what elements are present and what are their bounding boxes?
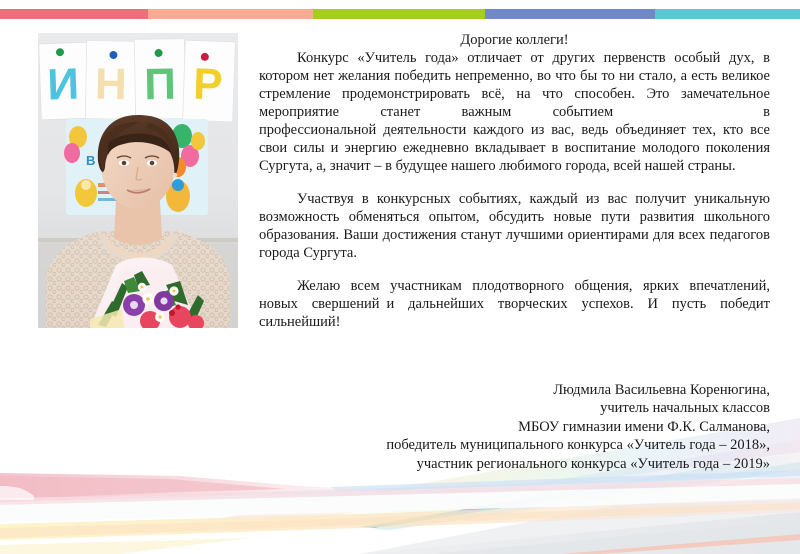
paragraph-1: Конкурс «Учитель года» отличает от други… [259,49,770,175]
signature-line-award-1: победитель муниципального конкурса «Учит… [300,436,770,454]
presentation-slide: И Н П Р [0,0,800,554]
letter-text-block: Дорогие коллеги! Конкурс «Учитель года» … [259,31,770,331]
color-bar-segment-peach [148,9,313,19]
paragraph-2: Участвуя в конкурсных событиях, каждый и… [259,190,770,262]
signature-block: Людмила Васильевна Коренюгина, учитель н… [300,381,770,473]
decorative-color-bar [0,9,800,19]
signature-line-name: Людмила Васильевна Коренюгина, [300,381,770,399]
color-bar-segment-blue [485,9,655,19]
signature-line-school: МБОУ гимназии имени Ф.К. Салманова, [300,418,770,436]
greeting-line: Дорогие коллеги! [259,31,770,49]
teacher-photo: И Н П Р [38,33,238,328]
signature-line-award-2: участник регионального конкурса «Учитель… [300,455,770,473]
color-bar-segment-red [0,9,148,19]
paragraph-3: Желаю всем участникам плодотворного обще… [259,277,770,331]
paragraph-1-part-a: Конкурс «Учитель года» отличает от други… [259,50,770,120]
svg-text:И: И [46,60,79,110]
svg-text:Р: Р [192,60,223,110]
signature-line-role: учитель начальных классов [300,399,770,417]
svg-text:П: П [144,60,176,110]
color-bar-segment-teal [655,9,800,19]
color-bar-segment-green [313,9,485,19]
svg-text:Н: Н [95,60,128,110]
